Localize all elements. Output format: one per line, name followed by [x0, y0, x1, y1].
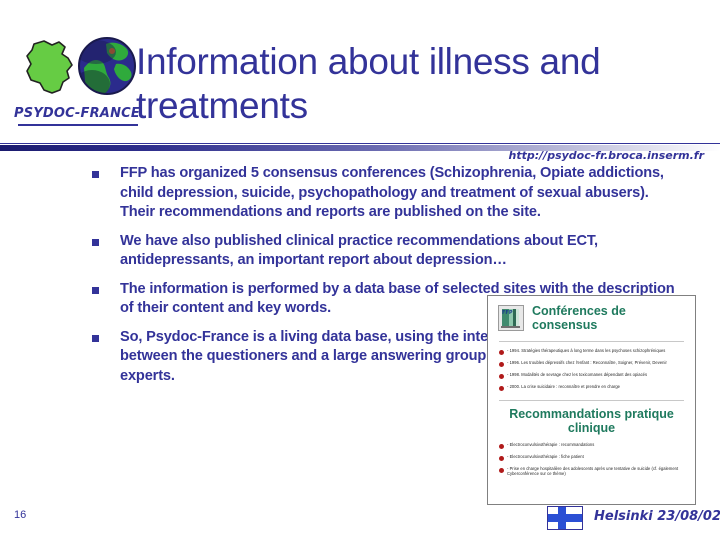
- inset-divider: [499, 341, 684, 342]
- logo-graphics: [14, 32, 140, 106]
- slide-number: 16: [14, 509, 26, 521]
- inset-list-item: - Electroconvulsivothérapie : fiche pati…: [499, 454, 685, 461]
- flag-vertical-bar: [558, 507, 566, 529]
- red-bullet-icon: [499, 468, 504, 473]
- inset-list-item-text[interactable]: - Prise en charge hospitalière des adole…: [507, 466, 685, 477]
- inset-heading-conferences: Conférences de consensus: [532, 304, 685, 332]
- slide: PSYDOC-FRANCE Information about illness …: [0, 0, 720, 540]
- inset-list-item: - 2000. La crise suicidaire : reconnaîtr…: [499, 384, 685, 391]
- red-bullet-icon: [499, 350, 504, 355]
- inset-list-item-text[interactable]: - Electroconvulsivothérapie : fiche pati…: [507, 454, 584, 459]
- inset-list-item-text[interactable]: - Electroconvulsivothérapie : recommanda…: [507, 442, 594, 447]
- france-map-icon: [22, 38, 78, 96]
- square-bullet-icon: [92, 335, 99, 342]
- globe-icon: [76, 34, 138, 98]
- inset-list-item-text[interactable]: - 1994. Stratégies thérapeutiques à long…: [507, 348, 665, 353]
- square-bullet-icon: [92, 171, 99, 178]
- inset-list-item: - 1994. Stratégies thérapeutiques à long…: [499, 348, 685, 355]
- finland-flag-icon: [547, 506, 583, 530]
- site-url: http://psydoc-fr.broca.inserm.fr: [509, 149, 704, 162]
- divider-line: [0, 143, 720, 144]
- footer-place-date: Helsinki 23/08/02: [594, 509, 720, 524]
- red-bullet-icon: [499, 386, 504, 391]
- slide-title: Information about illness and treatments: [136, 40, 696, 128]
- inset-conference-list: - 1994. Stratégies thérapeutiques à long…: [488, 348, 695, 391]
- bullet-item-text: So, Psydoc-France is a living data base,…: [120, 328, 540, 387]
- red-bullet-icon: [499, 456, 504, 461]
- website-screenshot-inset: FFP Conférences de consensus - 1994. Str…: [487, 295, 696, 505]
- inset-divider: [499, 400, 684, 401]
- inset-recommendation-list: - Electroconvulsivothérapie : recommanda…: [488, 442, 695, 477]
- inset-list-item: - 1998. Modalités de sevrage chez les to…: [499, 372, 685, 379]
- bullet-item-text: We have also published clinical practice…: [120, 232, 684, 271]
- inset-list-item-text[interactable]: - 1998. Modalités de sevrage chez les to…: [507, 372, 647, 377]
- red-bullet-icon: [499, 374, 504, 379]
- square-bullet-icon: [92, 287, 99, 294]
- ffp-book-icon: FFP: [498, 305, 524, 331]
- svg-text:FFP: FFP: [502, 310, 513, 316]
- inset-heading-recommendations: Recommandations pratique clinique: [488, 407, 695, 435]
- inset-list-item: - Prise en charge hospitalière des adole…: [499, 466, 685, 477]
- bullet-item-text: FFP has organized 5 consensus conference…: [120, 164, 684, 223]
- red-bullet-icon: [499, 444, 504, 449]
- inset-list-item: - 1996. Les troubles dépressifs chez l'e…: [499, 360, 685, 367]
- bullet-item: We have also published clinical practice…: [92, 232, 692, 271]
- red-bullet-icon: [499, 362, 504, 367]
- inset-list-item-text[interactable]: - 1996. Les troubles dépressifs chez l'e…: [507, 360, 667, 365]
- inset-list-item-text[interactable]: - 2000. La crise suicidaire : reconnaîtr…: [507, 384, 620, 389]
- logo-underline: [18, 124, 138, 126]
- logo-wordmark: PSYDOC-FRANCE: [14, 106, 140, 121]
- inset-list-item: - Electroconvulsivothérapie : recommanda…: [499, 442, 685, 449]
- inset-bottom-padding: [488, 482, 695, 488]
- inset-header: FFP Conférences de consensus: [488, 296, 695, 332]
- bullet-item: FFP has organized 5 consensus conference…: [92, 164, 692, 223]
- psydoc-france-logo: PSYDOC-FRANCE: [14, 32, 140, 144]
- square-bullet-icon: [92, 239, 99, 246]
